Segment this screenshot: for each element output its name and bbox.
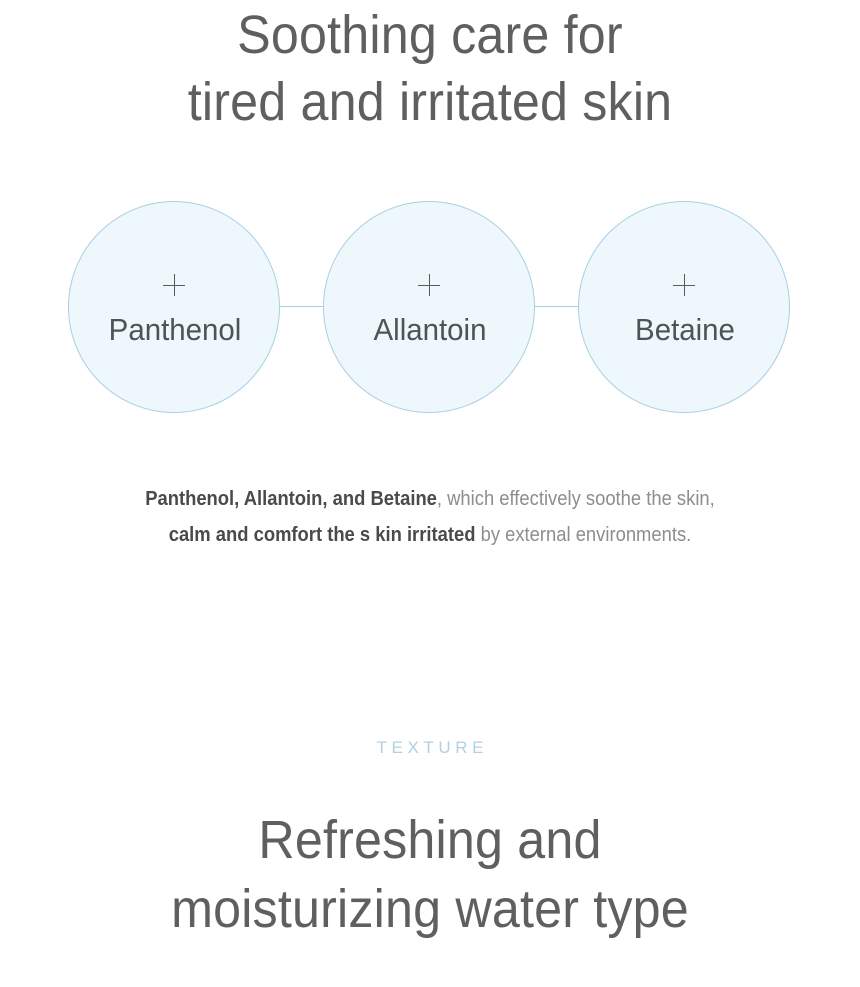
description-text: , which effectively soothe the skin,: [437, 488, 715, 510]
ingredient-description: Panthenol, Allantoin, and Betaine, which…: [34, 481, 825, 553]
ingredient-circle-betaine: Betaine: [578, 201, 790, 413]
plus-icon: [163, 274, 185, 296]
ingredient-label: Betaine: [584, 312, 785, 348]
description-line-1: Panthenol, Allantoin, and Betaine, which…: [34, 481, 825, 517]
hero-heading-line-2: tired and irritated skin: [30, 69, 830, 136]
description-line-2: calm and comfort the s kin irritated by …: [34, 517, 825, 553]
description-emphasis: Panthenol, Allantoin, and Betaine: [145, 488, 437, 510]
ingredient-diagram: Panthenol Allantoin Betaine: [68, 201, 790, 413]
description-text: by external environments.: [475, 524, 691, 546]
product-detail-page: Soothing care for tired and irritated sk…: [0, 0, 860, 987]
plus-icon: [673, 274, 695, 296]
ingredient-circle-allantoin: Allantoin: [323, 201, 535, 413]
ingredient-label: Allantoin: [329, 312, 530, 348]
texture-heading-line-2: moisturizing water type: [30, 875, 830, 944]
texture-eyebrow-label: TEXTURE: [0, 737, 860, 759]
description-emphasis: calm and comfort the s kin irritated: [169, 524, 476, 546]
texture-heading-line-1: Refreshing and: [30, 806, 830, 875]
connector-line-2: [533, 306, 579, 307]
ingredient-circle-panthenol: Panthenol: [68, 201, 280, 413]
connector-line-1: [278, 306, 324, 307]
hero-heading-line-1: Soothing care for: [30, 2, 830, 69]
ingredient-label: Panthenol: [74, 312, 275, 348]
plus-icon: [418, 274, 440, 296]
hero-heading: Soothing care for tired and irritated sk…: [30, 0, 830, 136]
texture-heading: Refreshing and moisturizing water type: [30, 806, 830, 944]
